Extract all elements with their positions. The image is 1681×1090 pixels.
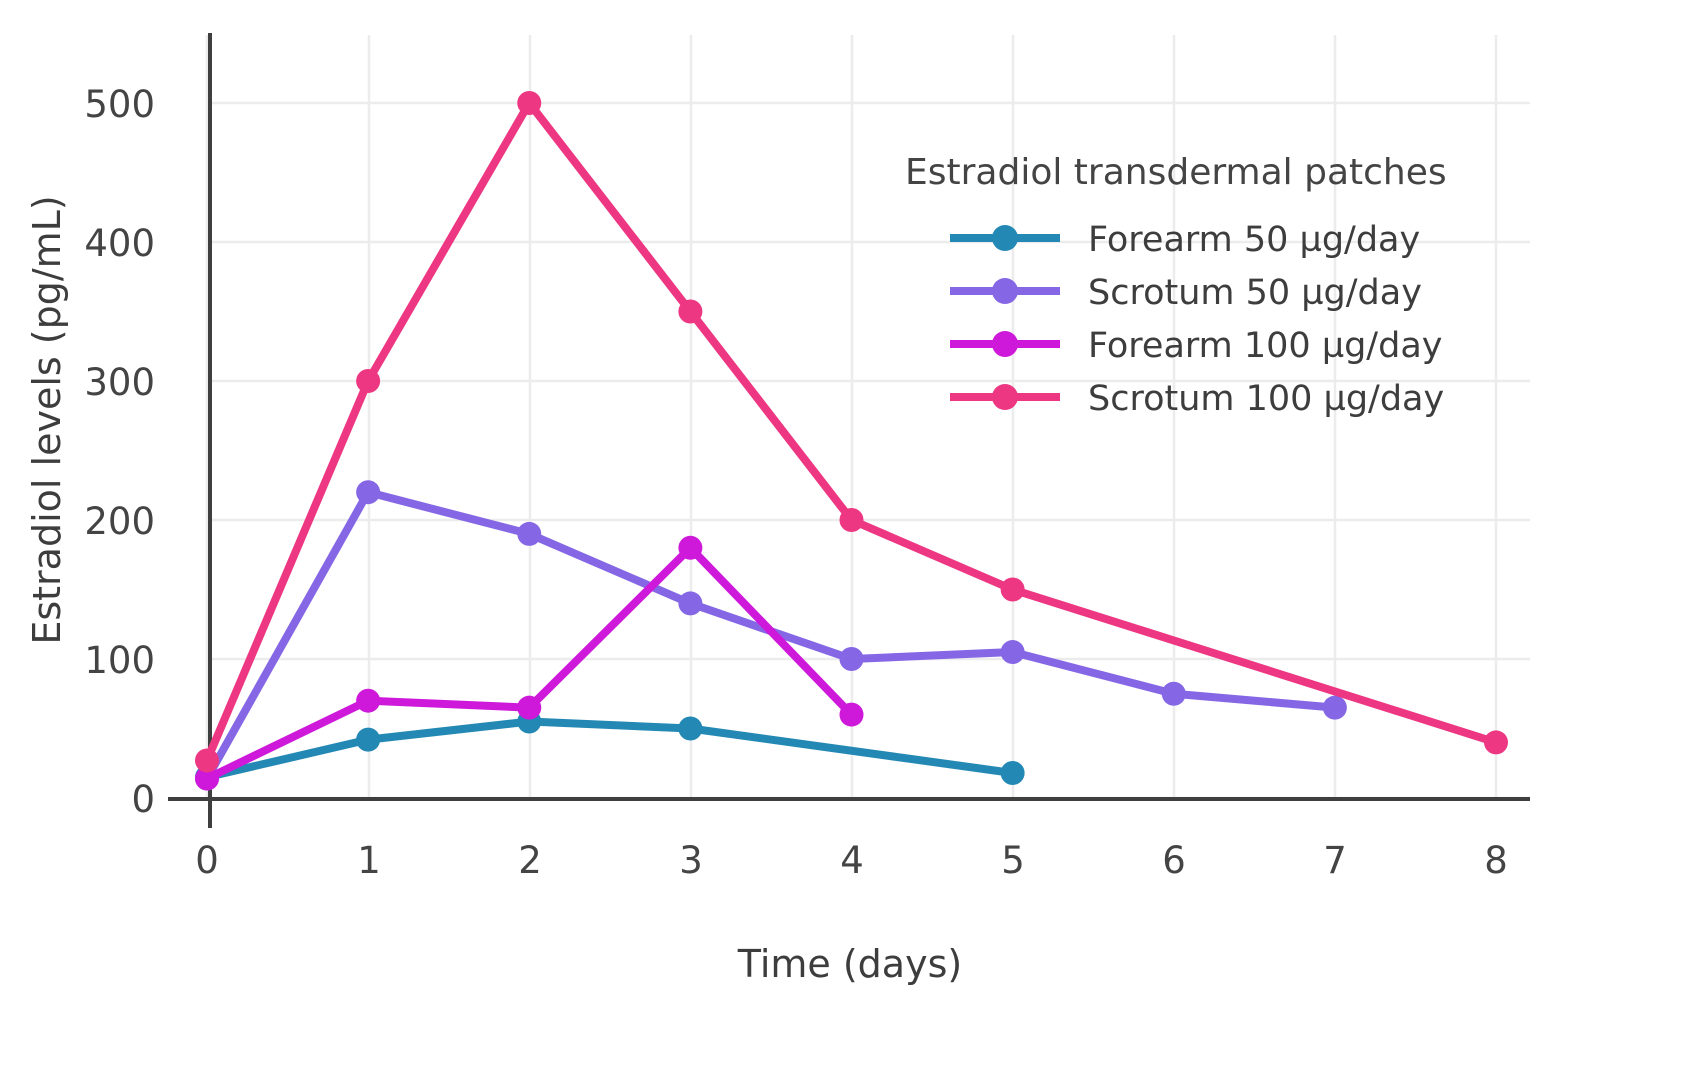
legend-item-scrotum-50[interactable]: Scrotum 50 µg/day xyxy=(950,273,1422,313)
legend-swatch-marker-icon xyxy=(992,384,1018,410)
data-point-marker[interactable] xyxy=(1001,578,1025,602)
x-tick-label: 5 xyxy=(1001,839,1025,882)
y-tick-labels: 0 100 200 300 400 500 xyxy=(84,83,155,821)
legend-label: Forearm 50 µg/day xyxy=(1088,220,1420,260)
y-tick-label: 400 xyxy=(84,222,155,265)
legend-label: Forearm 100 µg/day xyxy=(1088,326,1442,366)
data-point-marker[interactable] xyxy=(1001,761,1025,785)
data-point-marker[interactable] xyxy=(840,703,864,727)
legend-label: Scrotum 50 µg/day xyxy=(1088,273,1422,313)
y-tick-label: 0 xyxy=(131,778,155,821)
legend-label: Scrotum 100 µg/day xyxy=(1088,379,1444,419)
x-tick-label: 2 xyxy=(518,839,542,882)
legend-item-forearm-100[interactable]: Forearm 100 µg/day xyxy=(950,326,1442,366)
y-tick-label: 300 xyxy=(84,361,155,404)
legend-title: Estradiol transdermal patches xyxy=(905,152,1447,193)
legend-swatch-marker-icon xyxy=(992,331,1018,357)
y-axis-title: Estradiol levels (pg/mL) xyxy=(25,195,69,644)
x-tick-label: 0 xyxy=(195,839,219,882)
data-point-marker[interactable] xyxy=(356,480,380,504)
y-tick-label: 500 xyxy=(84,83,155,126)
data-point-marker[interactable] xyxy=(517,522,541,546)
legend-item-forearm-50[interactable]: Forearm 50 µg/day xyxy=(950,220,1420,260)
legend-item-scrotum-100[interactable]: Scrotum 100 µg/day xyxy=(950,379,1444,419)
data-point-marker[interactable] xyxy=(1001,640,1025,664)
legend: Estradiol transdermal patches Forearm 50… xyxy=(905,152,1447,419)
data-point-marker[interactable] xyxy=(356,728,380,752)
x-tick-label: 7 xyxy=(1323,839,1347,882)
estradiol-line-chart: 0 100 200 300 400 500 0 1 2 3 4 5 6 7 8 … xyxy=(0,0,1681,1090)
x-tick-label: 3 xyxy=(679,839,703,882)
x-axis-title: Time (days) xyxy=(737,942,962,986)
data-point-marker[interactable] xyxy=(517,91,541,115)
data-point-marker[interactable] xyxy=(1323,696,1347,720)
data-point-marker[interactable] xyxy=(678,591,702,615)
data-point-marker[interactable] xyxy=(1484,730,1508,754)
chart-canvas: 0 100 200 300 400 500 0 1 2 3 4 5 6 7 8 … xyxy=(0,0,1681,1090)
data-point-marker[interactable] xyxy=(678,717,702,741)
y-tick-label: 200 xyxy=(84,500,155,543)
data-point-marker[interactable] xyxy=(678,300,702,324)
x-tick-label: 8 xyxy=(1484,839,1508,882)
y-tick-label: 100 xyxy=(84,639,155,682)
series-line xyxy=(207,722,1013,778)
x-tick-label: 4 xyxy=(840,839,864,882)
x-tick-labels: 0 1 2 3 4 5 6 7 8 xyxy=(195,839,1508,882)
legend-swatch-marker-icon xyxy=(992,225,1018,251)
data-point-marker[interactable] xyxy=(356,689,380,713)
data-point-marker[interactable] xyxy=(678,536,702,560)
data-point-marker[interactable] xyxy=(517,696,541,720)
data-point-marker[interactable] xyxy=(840,508,864,532)
data-point-marker[interactable] xyxy=(195,748,219,772)
x-tick-label: 1 xyxy=(357,839,381,882)
data-point-marker[interactable] xyxy=(840,647,864,671)
x-tick-label: 6 xyxy=(1162,839,1186,882)
data-point-marker[interactable] xyxy=(1162,682,1186,706)
legend-swatch-marker-icon xyxy=(992,278,1018,304)
data-point-marker[interactable] xyxy=(356,369,380,393)
